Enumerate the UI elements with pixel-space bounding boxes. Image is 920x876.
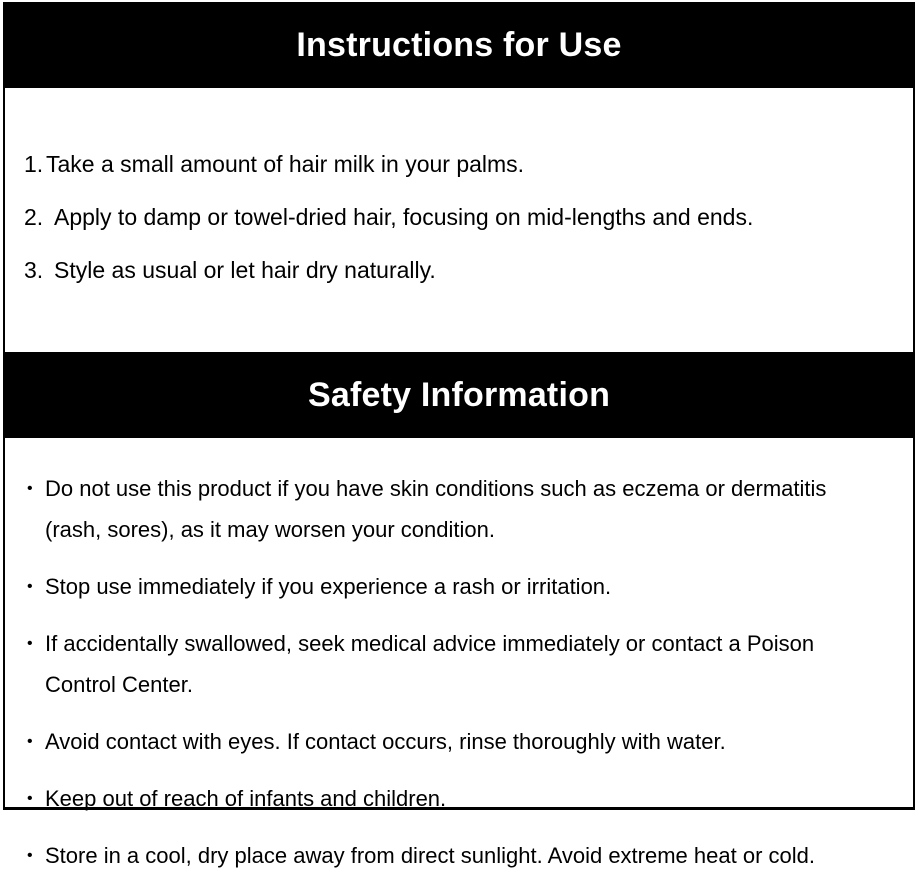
list-item: • Keep out of reach of infants and child… — [5, 778, 913, 819]
instructions-list: 1. Take a small amount of hair milk in y… — [5, 150, 913, 284]
list-item-text: If accidentally swallowed, seek medical … — [45, 623, 879, 705]
bullet-icon: • — [27, 623, 45, 664]
list-item: • If accidentally swallowed, seek medica… — [5, 623, 913, 705]
product-label-sheet: Instructions for Use 1. Take a small amo… — [0, 0, 920, 815]
bullet-icon: • — [27, 778, 45, 819]
list-item: 3. Style as usual or let hair dry natura… — [5, 256, 913, 284]
list-item-marker: 1. — [24, 150, 46, 178]
list-item-text: Apply to damp or towel-dried hair, focus… — [54, 203, 887, 231]
list-item: 2. Apply to damp or towel-dried hair, fo… — [5, 203, 913, 231]
list-item-text: Do not use this product if you have skin… — [45, 468, 879, 550]
section-body-safety: • Do not use this product if you have sk… — [3, 438, 915, 810]
section-title-instructions: Instructions for Use — [296, 28, 621, 62]
list-item: • Avoid contact with eyes. If contact oc… — [5, 721, 913, 762]
list-item-text: Style as usual or let hair dry naturally… — [54, 256, 887, 284]
section-header-instructions: Instructions for Use — [3, 2, 915, 88]
list-item-text: Stop use immediately if you experience a… — [45, 566, 879, 607]
section-header-safety: Safety Information — [3, 352, 915, 438]
list-item-text: Avoid contact with eyes. If contact occu… — [45, 721, 879, 762]
list-item-marker: 3. — [24, 256, 54, 284]
list-item-text: Store in a cool, dry place away from dir… — [45, 835, 879, 876]
section-title-safety: Safety Information — [308, 378, 610, 412]
list-item-marker: 2. — [24, 203, 54, 231]
bullet-icon: • — [27, 835, 45, 876]
bullet-icon: • — [27, 721, 45, 762]
list-item: 1. Take a small amount of hair milk in y… — [5, 150, 913, 178]
list-item-text: Take a small amount of hair milk in your… — [46, 150, 887, 178]
list-item: • Do not use this product if you have sk… — [5, 468, 913, 550]
list-item: • Stop use immediately if you experience… — [5, 566, 913, 607]
list-item: • Store in a cool, dry place away from d… — [5, 835, 913, 876]
bullet-icon: • — [27, 468, 45, 509]
list-item-text: Keep out of reach of infants and childre… — [45, 778, 879, 819]
section-body-instructions: 1. Take a small amount of hair milk in y… — [3, 88, 915, 352]
bullet-icon: • — [27, 566, 45, 607]
